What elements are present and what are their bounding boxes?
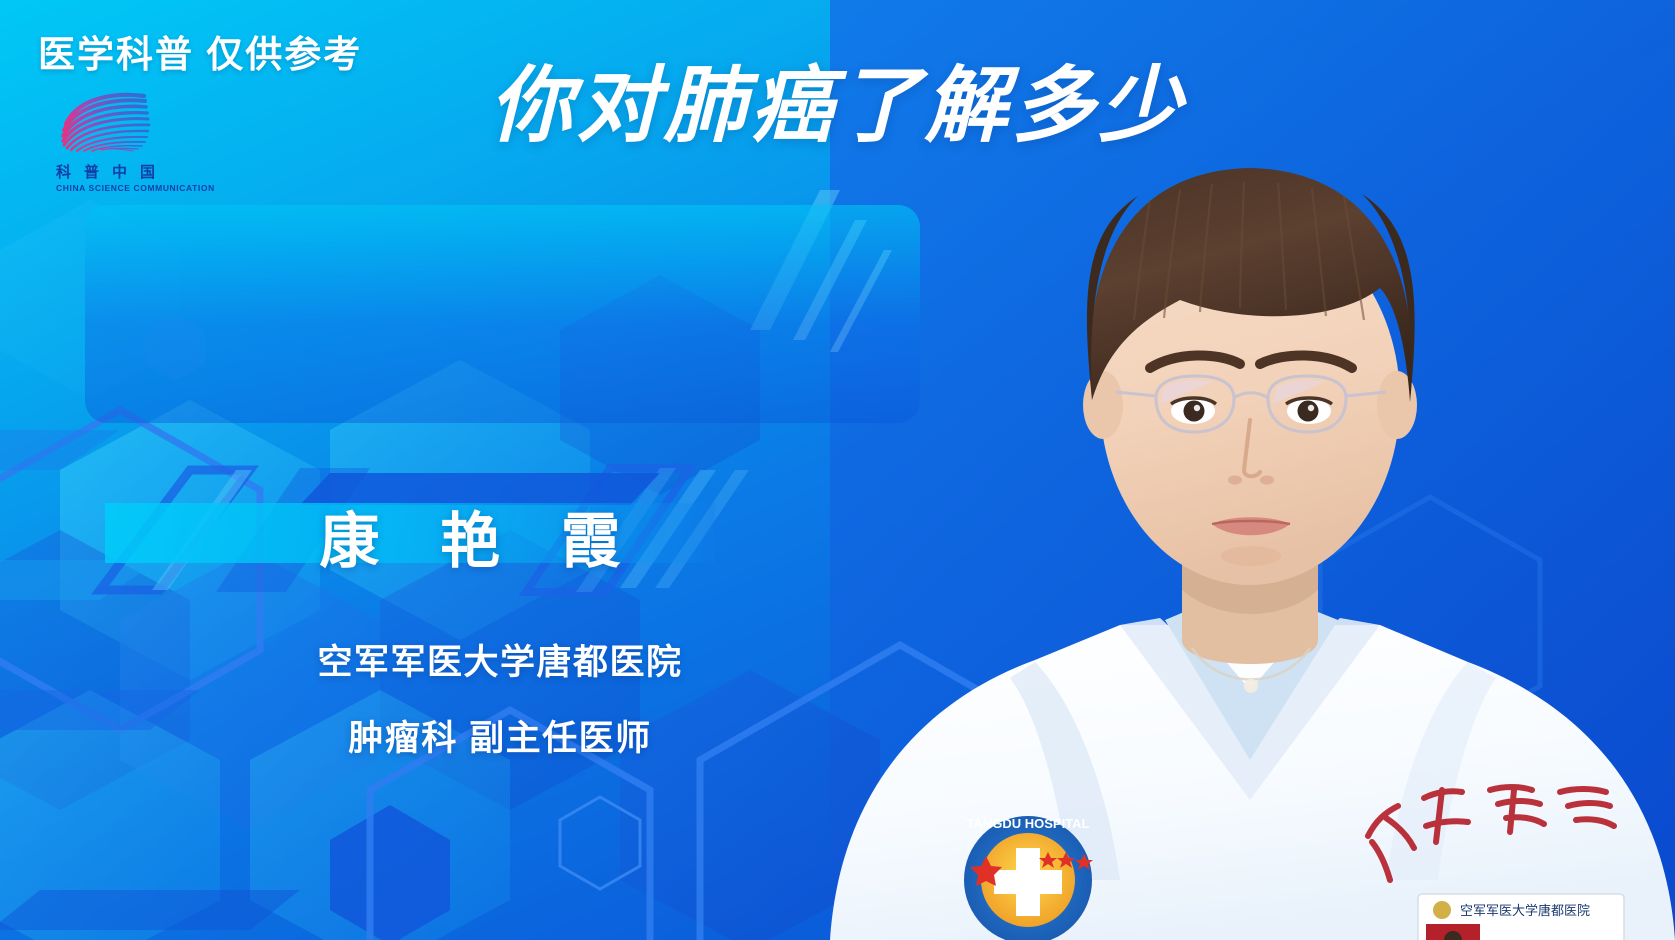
title-panel	[85, 205, 920, 423]
logo-char-3: 国	[140, 161, 155, 182]
id-card-label: 空军军医大学唐都医院	[1460, 903, 1590, 918]
logo-char-2: 中	[112, 161, 127, 182]
logo-char-1: 普	[84, 161, 99, 182]
id-card: 空军军医大学唐都医院	[1418, 894, 1624, 940]
watermark-block: 医学科普 仅供参考	[38, 24, 362, 193]
kepu-china-logo	[44, 90, 194, 165]
doctor-portrait: TANGDU HOSPITAL 空军军医大学唐都医院	[820, 0, 1675, 940]
speaker-name: 康 艳 霞	[0, 493, 940, 580]
slide-canvas: 医学科普 仅供参考	[0, 0, 1675, 940]
badge-label: TANGDU HOSPITAL	[966, 816, 1089, 831]
logo-english-name: CHINA SCIENCE COMMUNICATION	[56, 183, 362, 193]
logo-char-0: 科	[56, 161, 71, 182]
disclaimer-text: 医学科普 仅供参考	[38, 24, 362, 78]
